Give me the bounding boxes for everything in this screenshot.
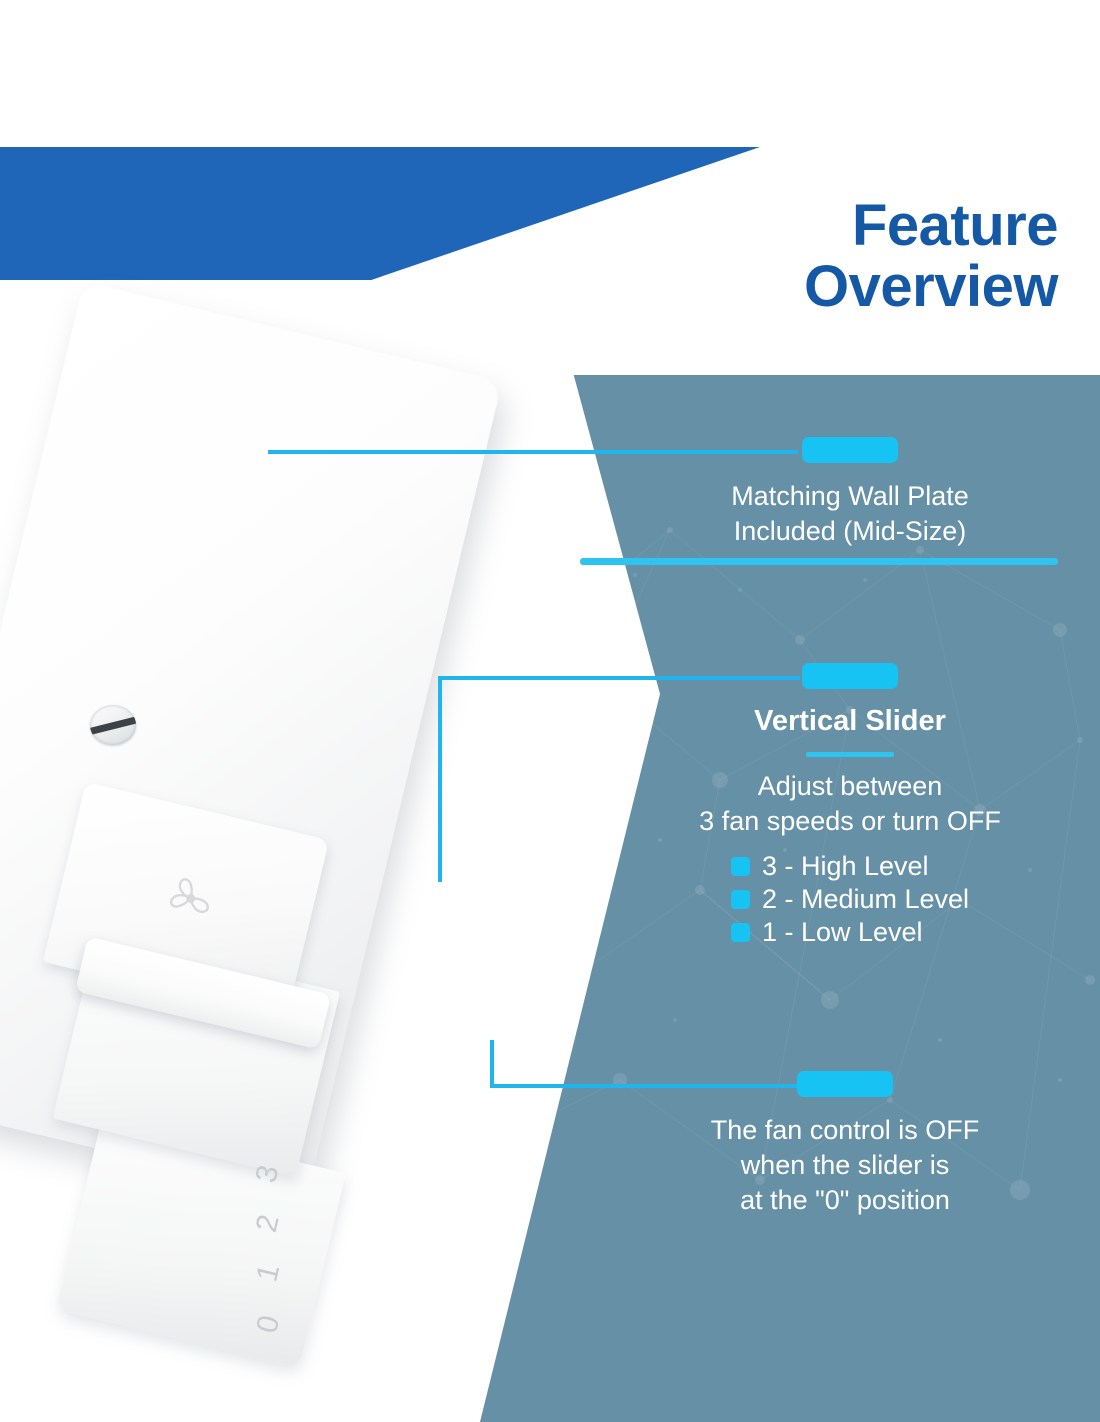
callout-body-vertical-slider: Adjust between 3 fan speeds or turn OFF <box>640 769 1060 839</box>
speed-level-label-high: 3 - High Level <box>762 851 929 882</box>
speed-level-label-medium: 2 - Medium Level <box>762 884 969 915</box>
callout-text-line-2: Included (Mid-Size) <box>640 514 1060 549</box>
product-image-fan-control: 3 2 1 0 <box>0 300 580 1250</box>
callout-pill-wall-plate <box>802 437 898 463</box>
list-item: 2 - Medium Level <box>731 884 969 915</box>
callout-wall-plate: Matching Wall Plate Included (Mid-Size) <box>640 437 1060 549</box>
leader-line-vertical-slider-vertical <box>438 676 442 882</box>
callout-vertical-slider: Vertical Slider Adjust between 3 fan spe… <box>640 663 1060 950</box>
list-item: 1 - Low Level <box>731 917 969 948</box>
feature-overview-infographic: 3 2 1 0 Feature Overview Matching Wall P… <box>0 0 1100 1422</box>
bullet-square-icon <box>731 923 750 942</box>
list-item: 3 - High Level <box>731 851 969 882</box>
callout-text-line-2: when the slider is <box>630 1148 1060 1183</box>
page-title: Feature Overview <box>518 196 1058 318</box>
callout-pill-off-position <box>797 1071 893 1097</box>
bullet-square-icon <box>731 890 750 909</box>
page-title-line-2: Overview <box>518 257 1058 318</box>
page-title-line-1: Feature <box>518 196 1058 257</box>
speed-level-list: 3 - High Level 2 - Medium Level 1 - Low … <box>731 849 969 950</box>
scale-label-1: 1 <box>250 1261 287 1285</box>
speed-level-label-low: 1 - Low Level <box>762 917 923 948</box>
screw-slot <box>90 715 136 736</box>
callout-text-line-1: Matching Wall Plate <box>640 479 1060 514</box>
callout-heading-underline <box>806 752 894 757</box>
title-underline <box>580 558 1058 565</box>
callout-text-line-1: Adjust between <box>640 769 1060 804</box>
callout-text-line-2: 3 fan speeds or turn OFF <box>640 804 1060 839</box>
callout-off-position: The fan control is OFF when the slider i… <box>630 1071 1060 1218</box>
callout-text-line-3: at the "0" position <box>630 1183 1060 1218</box>
callout-body-off-position: The fan control is OFF when the slider i… <box>630 1113 1060 1218</box>
callout-heading-vertical-slider: Vertical Slider <box>640 705 1060 738</box>
scale-label-3: 3 <box>249 1162 286 1186</box>
leader-line-off-position-vertical <box>490 1040 494 1088</box>
screw-top <box>90 705 136 745</box>
scale-label-2: 2 <box>250 1211 287 1235</box>
fan-blade-icon <box>153 861 228 936</box>
callout-pill-vertical-slider <box>802 663 898 689</box>
bullet-square-icon <box>731 857 750 876</box>
callout-body-wall-plate: Matching Wall Plate Included (Mid-Size) <box>640 479 1060 549</box>
callout-text-line-1: The fan control is OFF <box>630 1113 1060 1148</box>
